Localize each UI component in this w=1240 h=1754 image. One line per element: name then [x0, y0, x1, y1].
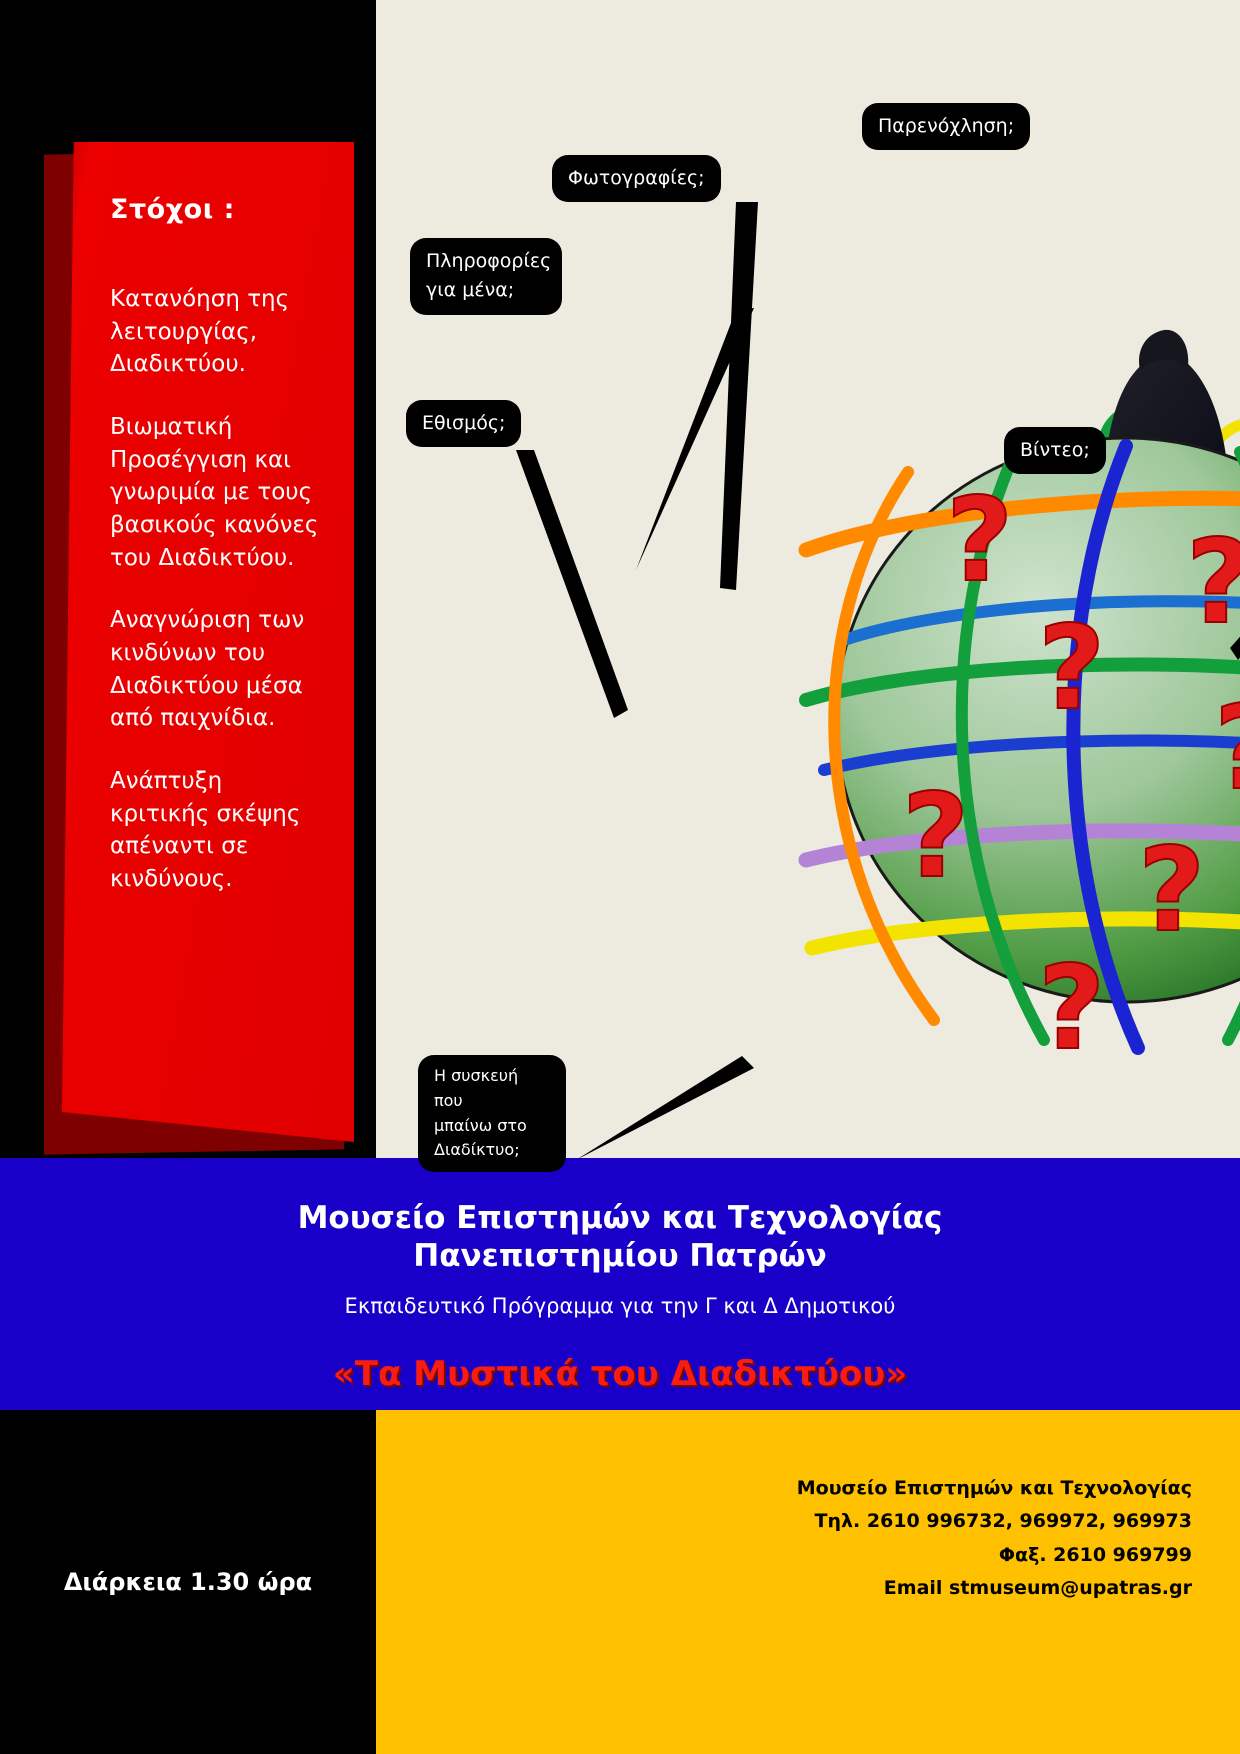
- bubble-tails-right: [1126, 100, 1240, 920]
- illustration-panel: ? ? ? ? ? ? ?: [376, 0, 1240, 1158]
- programme-title: «Τα Μυστικά του Διαδικτύου»: [0, 1318, 1240, 1394]
- bubble-device[interactable]: Η συσκευή που μπαίνω στο Διαδίκτυο;: [418, 1055, 566, 1172]
- objective-item-2: Βιωματική Προσέγγιση και γνωριμία με του…: [110, 411, 324, 574]
- objective-item-4: Ανάπτυξη κριτικής σκέψης απέναντι σε κιν…: [110, 765, 324, 896]
- contact-line-3: Φαξ. 2610 969799: [376, 1539, 1192, 1572]
- organisation-line-1: Μουσείο Επιστημών και Τεχνολογίας: [0, 1200, 1240, 1238]
- contact-line-2: Τηλ. 2610 996732, 969972, 969973: [376, 1505, 1192, 1538]
- poster-root: ? ? ? ? ? ? ?: [0, 0, 1240, 1754]
- bubble-video[interactable]: Βίντεο;: [1004, 427, 1106, 474]
- organisation-name: Μουσείο Επιστημών και Τεχνολογίας Πανεπι…: [0, 1158, 1240, 1276]
- objective-item-3: Αναγνώριση των κινδύνων του Διαδικτύου μ…: [110, 604, 324, 735]
- bubble-information[interactable]: Πληροφορίες για μένα;: [410, 238, 562, 315]
- bottom-row: Διάρκεια 1.30 ώρα Μουσείο Επιστημών και …: [0, 1410, 1240, 1754]
- bubble-addiction[interactable]: Εθισμός;: [406, 400, 521, 447]
- objectives-card: Στόχοι : Κατανόηση της λειτουργίας, Διαδ…: [62, 142, 354, 1142]
- objective-item-1: Κατανόηση της λειτουργίας, Διαδικτύου.: [110, 283, 324, 381]
- duration-text: Διάρκεια 1.30 ώρα: [64, 1568, 312, 1596]
- duration-block: Διάρκεια 1.30 ώρα: [0, 1410, 376, 1754]
- programme-subtitle: Εκπαιδευτικό Πρόγραμμα για την Γ και Δ Δ…: [0, 1276, 1240, 1318]
- footer-blue-band: Μουσείο Επιστημών και Τεχνολογίας Πανεπι…: [0, 1158, 1240, 1410]
- bubble-photos[interactable]: Φωτογραφίες;: [552, 155, 721, 202]
- bubble-harassment[interactable]: Παρενόχληση;: [862, 103, 1030, 150]
- organisation-line-2: Πανεπιστημίου Πατρών: [0, 1238, 1240, 1276]
- contact-line-1: Μουσείο Επιστημών και Τεχνολογίας: [376, 1472, 1192, 1505]
- contact-line-4[interactable]: Email stmuseum@upatras.gr: [376, 1572, 1192, 1605]
- contact-block: Μουσείο Επιστημών και Τεχνολογίας Τηλ. 2…: [376, 1410, 1240, 1754]
- objectives-heading: Στόχοι :: [110, 194, 324, 225]
- upper-stage: ? ? ? ? ? ? ?: [0, 0, 1240, 1158]
